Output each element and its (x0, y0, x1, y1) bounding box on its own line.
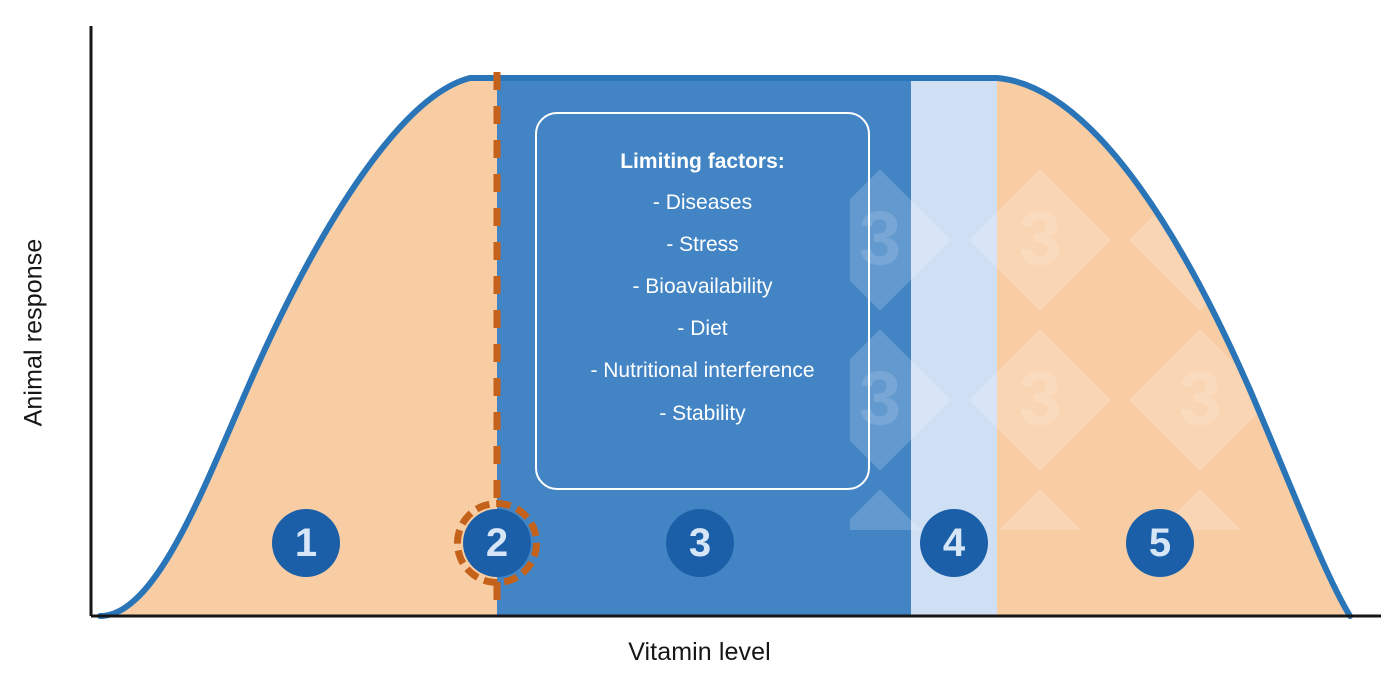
x-axis-label: Vitamin level (0, 638, 1399, 667)
limiting-factor-item: - Stability (537, 402, 868, 425)
y-axis-label: Animal response (20, 233, 49, 433)
limiting-factors-panel: Limiting factors: - Diseases - Stress - … (535, 112, 870, 490)
zone-marker-3[interactable]: 3 (666, 509, 734, 577)
watermark-pattern (850, 170, 1399, 530)
zone-marker-1[interactable]: 1 (272, 509, 340, 577)
limiting-factor-item: - Diet (537, 317, 868, 340)
limiting-factor-item: - Stress (537, 233, 868, 256)
limiting-factors-title: Limiting factors: (537, 150, 868, 173)
zone-marker-4[interactable]: 4 (920, 509, 988, 577)
limiting-factor-item: - Nutritional interference (537, 359, 868, 382)
zone-marker-5[interactable]: 5 (1126, 509, 1194, 577)
chart-canvas: 3 Animal response Vitamin level Limiting… (0, 0, 1399, 699)
limiting-factor-item: - Bioavailability (537, 275, 868, 298)
zone-marker-2[interactable]: 2 (463, 509, 531, 577)
limiting-factor-item: - Diseases (537, 191, 868, 214)
